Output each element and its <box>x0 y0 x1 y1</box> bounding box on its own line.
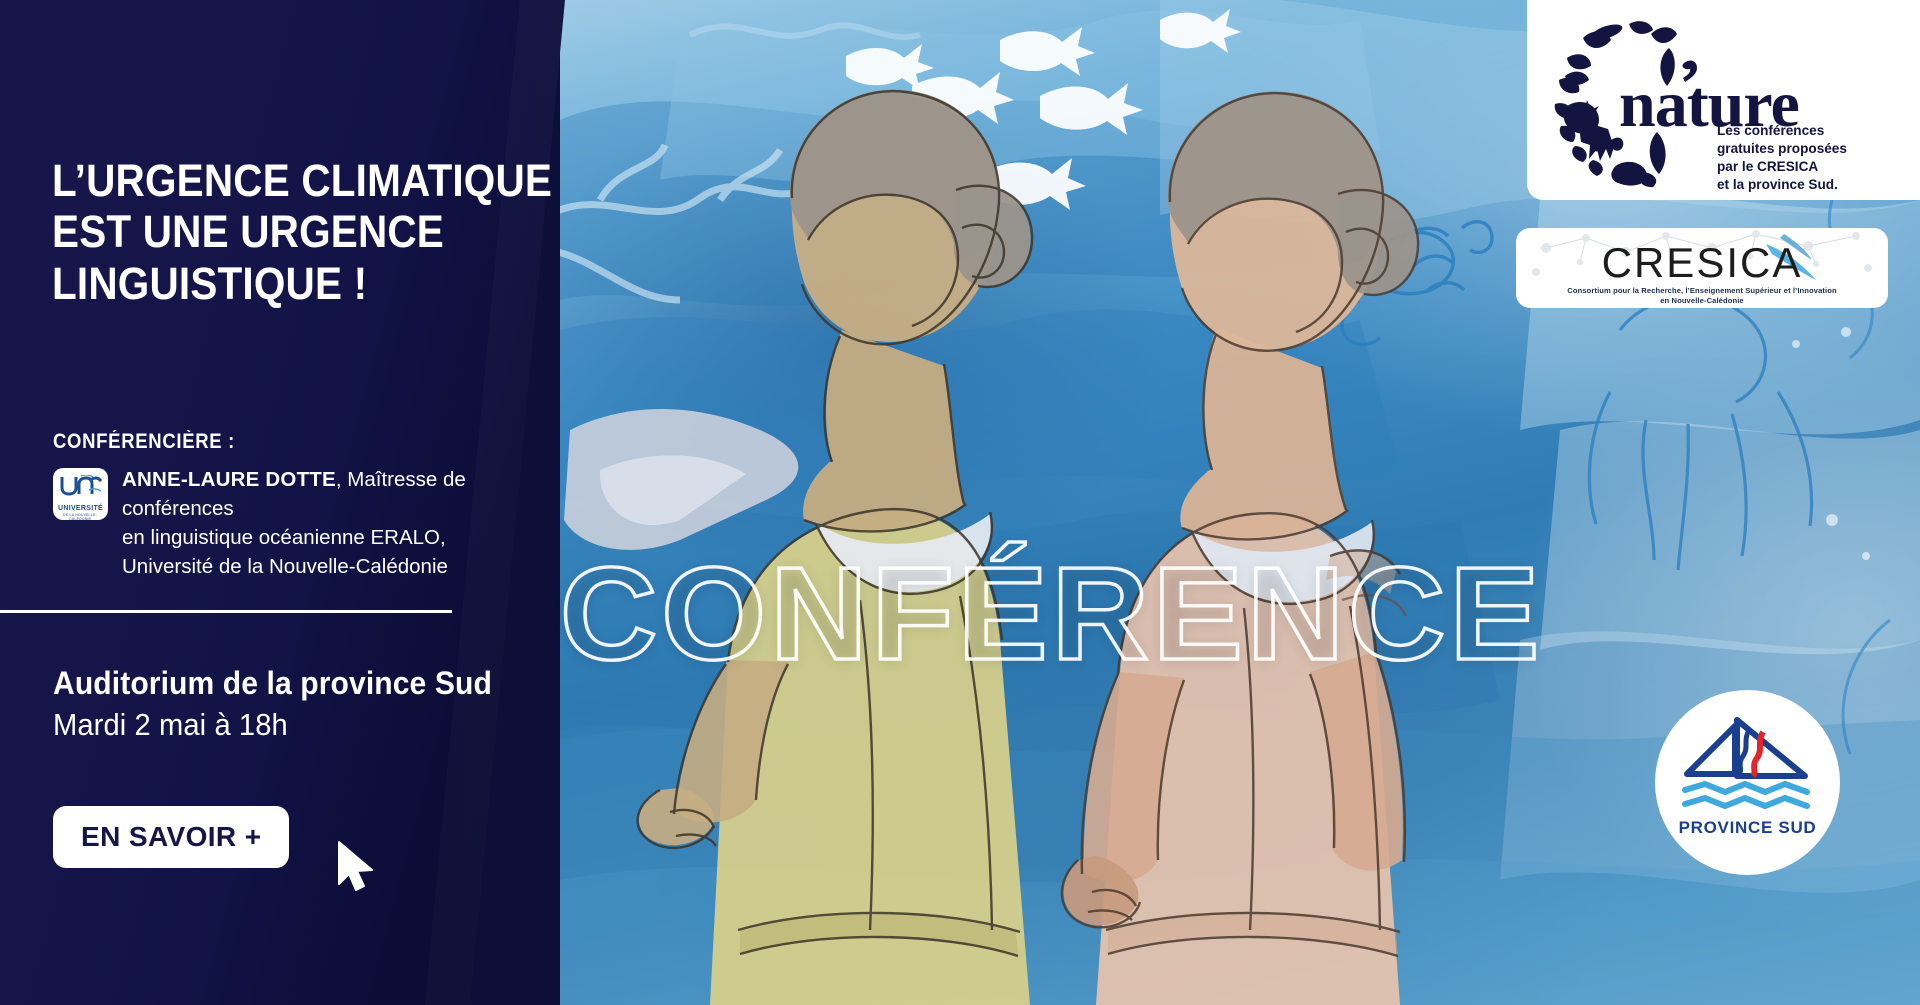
speaker-role-line3: Université de la Nouvelle-Calédonie <box>122 555 448 578</box>
left-content-column: L’URGENCE CLIMATIQUE EST UNE URGENCE LIN… <box>0 0 560 1005</box>
nature-logo-card: nature Les conférences gratuites proposé… <box>1527 0 1920 200</box>
nature-tagline-line-3: par le CRESICA <box>1717 158 1917 176</box>
speaker-name: ANNE-LAURE DOTTE <box>122 468 336 491</box>
cresica-subtitle-line-1: Consortium pour la Recherche, l’Enseigne… <box>1516 286 1888 296</box>
province-sud-logo: PROVINCE SUD <box>1655 690 1840 875</box>
learn-more-button[interactable]: EN SAVOIR + <box>53 806 289 868</box>
mouse-cursor-arrow <box>336 840 378 894</box>
title-line-3: LINGUISTIQUE ! <box>52 258 475 309</box>
nature-logo-tagline: Les conférences gratuites proposées par … <box>1717 122 1917 194</box>
speaker-label: CONFÉRENCIÈRE : <box>53 430 235 454</box>
unc-logo-line2: DE LA NOUVELLE-CALÉDONIE <box>57 513 103 520</box>
nature-tagline-line-1: Les conférences <box>1717 122 1917 140</box>
conference-banner-word: CONFÉRENCE <box>560 548 1417 680</box>
province-sud-label: PROVINCE SUD <box>1655 818 1840 838</box>
event-datetime: Mardi 2 mai à 18h <box>53 707 288 743</box>
nature-tagline-line-2: gratuites proposées <box>1717 140 1917 158</box>
nature-tagline-line-4: et la province Sud. <box>1717 176 1917 194</box>
cresica-logo-word: CRESICA <box>1516 242 1888 284</box>
unc-logo-line1: UNIVERSITÉ <box>58 505 102 512</box>
speaker-description: ANNE-LAURE DOTTE, Maîtresse de conférenc… <box>122 465 523 581</box>
title-line-1: L’URGENCE CLIMATIQUE <box>52 155 475 206</box>
title-line-2: EST UNE URGENCE <box>52 206 475 257</box>
speaker-role-line2: en linguistique océanienne ERALO, <box>122 526 446 549</box>
section-divider <box>0 610 452 613</box>
cresica-logo-card: CRESICA Consortium pour la Recherche, l’… <box>1516 228 1888 308</box>
cresica-subtitle-line-2: en Nouvelle-Calédonie <box>1516 296 1888 306</box>
speaker-row: UNIVERSITÉ DE LA NOUVELLE-CALÉDONIE ANNE… <box>53 465 523 581</box>
conference-poster: CONFÉRENCE L’URGENCE CLIMATIQUE EST UNE … <box>0 0 1920 1005</box>
province-sud-sail-icon <box>1677 716 1819 814</box>
venue-name: Auditorium de la province Sud <box>53 665 492 702</box>
unc-wave-mark <box>59 475 102 497</box>
cresica-logo-subtitle: Consortium pour la Recherche, l’Enseigne… <box>1516 286 1888 306</box>
unc-university-logo: UNIVERSITÉ DE LA NOUVELLE-CALÉDONIE <box>53 468 108 520</box>
page-title: L’URGENCE CLIMATIQUE EST UNE URGENCE LIN… <box>52 155 475 309</box>
